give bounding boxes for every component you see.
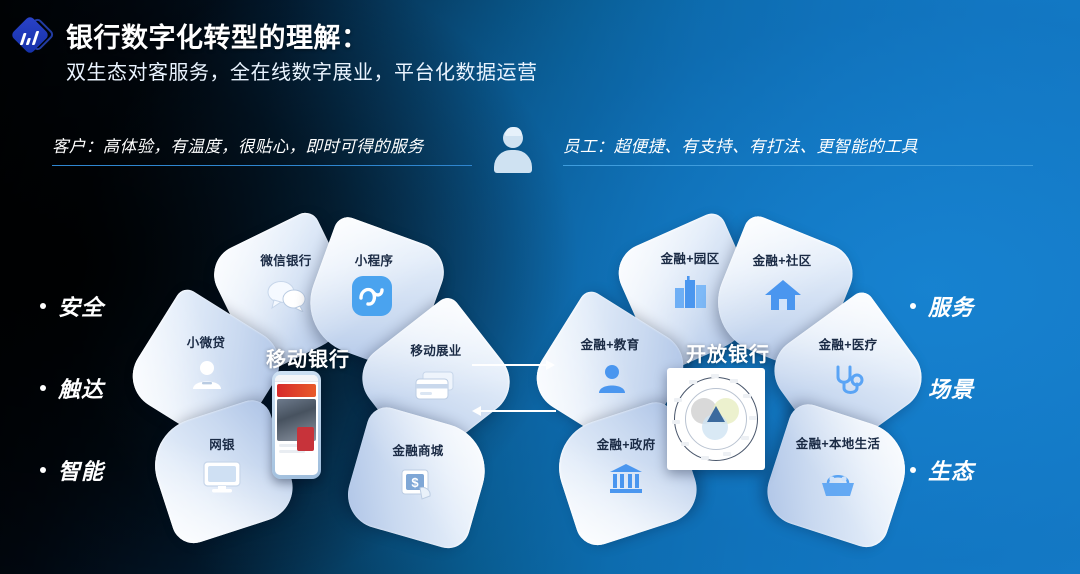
left-keyword-list: 安全 触达 智能 bbox=[40, 290, 104, 486]
government-building-icon bbox=[608, 462, 644, 494]
bullet-dot-icon bbox=[40, 303, 46, 309]
open-bank-hub-label: 开放银行 bbox=[686, 338, 770, 367]
page-subtitle: 双生态对客服务，全在线数字展业，平台化数据运营 bbox=[66, 56, 538, 85]
petal-finance-local-life[interactable]: 金融+本地生活 bbox=[759, 399, 918, 553]
page-title: 银行数字化转型的理解： bbox=[66, 16, 369, 55]
arrow-left-head-icon bbox=[472, 406, 481, 416]
customer-statement-text: 客户：高体验，有温度，很贴心，即时可得的服务 bbox=[52, 133, 472, 157]
arrow-left-icon bbox=[480, 410, 556, 412]
employee-statement: 员工：超便捷、有支持、有打法、更智能的工具 bbox=[563, 133, 1033, 166]
left-keyword-item: 触达 bbox=[40, 372, 104, 404]
house-icon bbox=[764, 278, 802, 312]
petal-label: 金融+教育 bbox=[550, 338, 670, 353]
bidirectional-exchange-arrows bbox=[470, 356, 570, 418]
chat-bubbles-icon bbox=[266, 278, 308, 312]
petal-label: 金融+本地生活 bbox=[778, 436, 898, 452]
left-keyword-label: 触达 bbox=[58, 372, 104, 404]
petal-label: 金融+社区 bbox=[722, 254, 842, 269]
right-keyword-item: 生态 bbox=[910, 454, 974, 486]
mini-program-icon bbox=[352, 276, 392, 316]
left-keyword-label: 智能 bbox=[58, 454, 104, 486]
bullet-dot-icon bbox=[910, 467, 916, 473]
person-icon bbox=[596, 364, 628, 394]
bank-cards-icon bbox=[414, 370, 456, 402]
right-keyword-label: 生态 bbox=[928, 454, 974, 486]
petal-label: 金融商城 bbox=[358, 444, 478, 459]
local-life-icon bbox=[820, 470, 856, 500]
bullet-dot-icon bbox=[910, 303, 916, 309]
ecosystem-venn-diagram bbox=[667, 368, 765, 470]
left-keyword-item: 安全 bbox=[40, 290, 104, 322]
right-keyword-label: 服务 bbox=[928, 290, 974, 322]
petal-label: 小程序 bbox=[314, 254, 434, 269]
mobile-phone-app-mockup bbox=[272, 371, 321, 479]
petal-label: 网银 bbox=[162, 438, 282, 453]
shop-dollar-icon: $ bbox=[400, 468, 436, 502]
stethoscope-icon bbox=[832, 364, 866, 398]
arrow-right-head-icon bbox=[546, 360, 555, 370]
bullet-dot-icon bbox=[40, 467, 46, 473]
slide-canvas: 银行数字化转型的理解： 双生态对客服务，全在线数字展业，平台化数据运营 客户：高… bbox=[0, 0, 1080, 574]
mobile-bank-hub-label: 移动银行 bbox=[266, 343, 350, 372]
arrow-right-icon bbox=[472, 364, 548, 366]
bullet-dot-icon bbox=[40, 385, 46, 391]
svg-text:$: $ bbox=[411, 475, 419, 490]
petal-label: 小微贷 bbox=[146, 336, 266, 351]
employee-statement-text: 员工：超便捷、有支持、有打法、更智能的工具 bbox=[563, 133, 1033, 157]
brand-diamond-logo bbox=[12, 17, 50, 55]
petal-label: 金融+医疗 bbox=[788, 338, 908, 353]
customer-statement: 客户：高体验，有温度，很贴心，即时可得的服务 bbox=[52, 133, 472, 166]
left-keyword-item: 智能 bbox=[40, 454, 104, 486]
monitor-icon bbox=[202, 460, 242, 494]
right-keyword-label: 场景 bbox=[928, 372, 974, 404]
person-icon bbox=[190, 360, 224, 390]
person-avatar-icon bbox=[491, 128, 535, 172]
left-keyword-label: 安全 bbox=[58, 290, 104, 322]
right-keyword-item: 服务 bbox=[910, 290, 974, 322]
buildings-icon bbox=[672, 276, 710, 308]
